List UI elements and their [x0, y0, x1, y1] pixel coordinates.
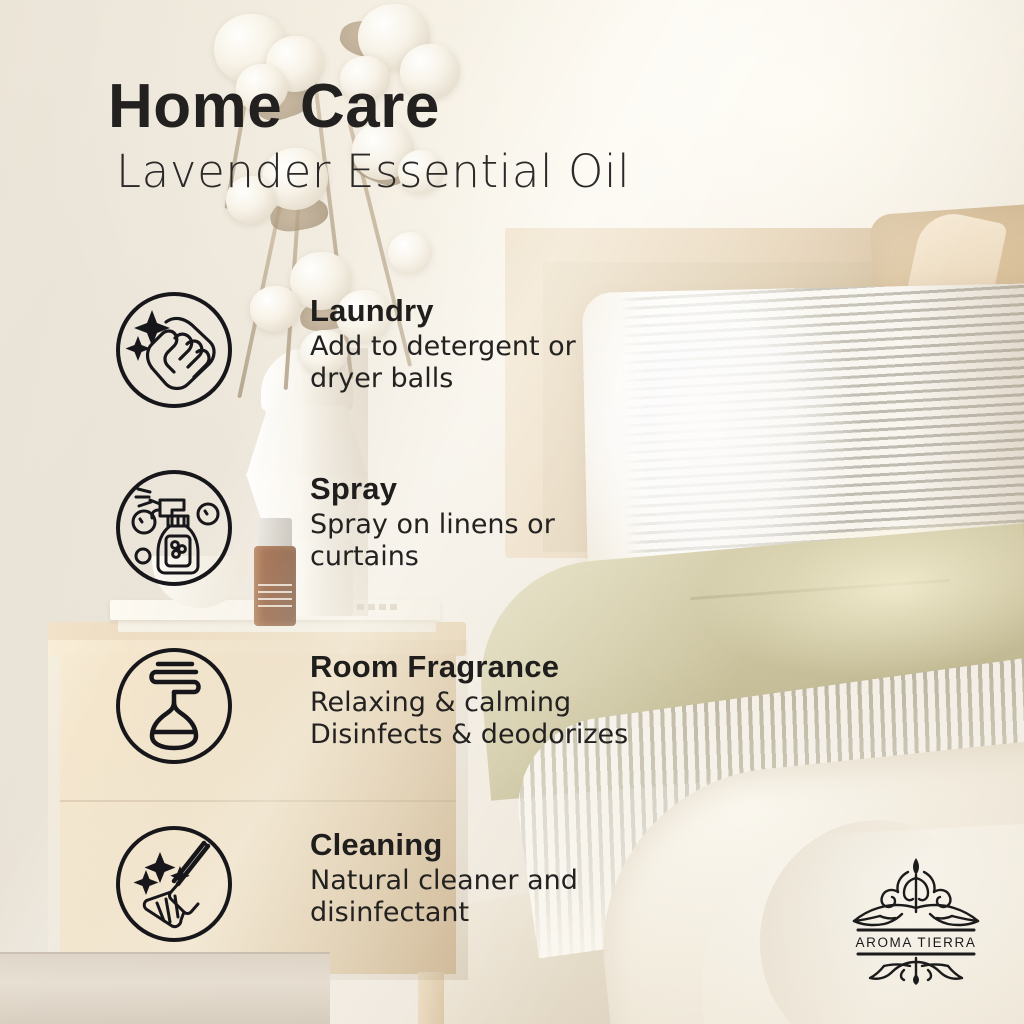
feature-desc-line: Disinfects & deodorizes	[310, 719, 730, 751]
feature-item-cleaning: Cleaning Natural cleaner and disinfectan…	[112, 822, 732, 1000]
feature-description: Relaxing & calming Disinfects & deodoriz…	[310, 687, 730, 752]
logo-wordmark: AROMA TIERRA	[856, 935, 977, 950]
feature-text-room-fragrance: Room Fragrance Relaxing & calming Disinf…	[310, 650, 730, 752]
title-block: Home Care Lavender Essential Oil	[108, 76, 630, 197]
feature-text-cleaning: Cleaning Natural cleaner and disinfectan…	[310, 828, 730, 930]
ornamental-flourish-icon	[854, 858, 978, 985]
feature-desc-line: curtains	[310, 541, 730, 573]
reed-diffuser-icon	[112, 644, 236, 768]
feature-list: Laundry Add to detergent or dryer balls	[112, 288, 732, 1000]
feature-desc-line: Add to detergent or	[310, 331, 730, 363]
spray-bottle-icon	[112, 466, 236, 590]
feature-title: Cleaning	[310, 828, 730, 863]
feature-item-room-fragrance: Room Fragrance Relaxing & calming Disinf…	[112, 644, 732, 822]
feature-item-laundry: Laundry Add to detergent or dryer balls	[112, 288, 732, 466]
feature-description: Natural cleaner and disinfectant	[310, 865, 730, 930]
feature-title: Laundry	[310, 294, 730, 329]
feature-text-spray: Spray Spray on linens or curtains	[310, 472, 730, 574]
feature-desc-line: dryer balls	[310, 363, 730, 395]
hand-wiping-cloth-icon	[112, 288, 236, 412]
feature-description: Spray on linens or curtains	[310, 509, 730, 574]
feature-desc-line: Natural cleaner and	[310, 865, 730, 897]
feature-desc-line: disinfectant	[310, 897, 730, 929]
broom-sparkle-icon	[112, 822, 236, 946]
feature-description: Add to detergent or dryer balls	[310, 331, 730, 396]
feature-desc-line: Spray on linens or	[310, 509, 730, 541]
feature-desc-line: Relaxing & calming	[310, 687, 730, 719]
page-subtitle: Lavender Essential Oil	[116, 148, 630, 197]
feature-text-laundry: Laundry Add to detergent or dryer balls	[310, 294, 730, 396]
feature-item-spray: Spray Spray on linens or curtains	[112, 466, 732, 644]
brand-logo: AROMA TIERRA	[840, 848, 992, 988]
poster-canvas: Home Care Lavender Essential Oil	[0, 0, 1024, 1024]
page-title: Home Care	[108, 76, 630, 138]
feature-title: Room Fragrance	[310, 650, 730, 685]
feature-title: Spray	[310, 472, 730, 507]
